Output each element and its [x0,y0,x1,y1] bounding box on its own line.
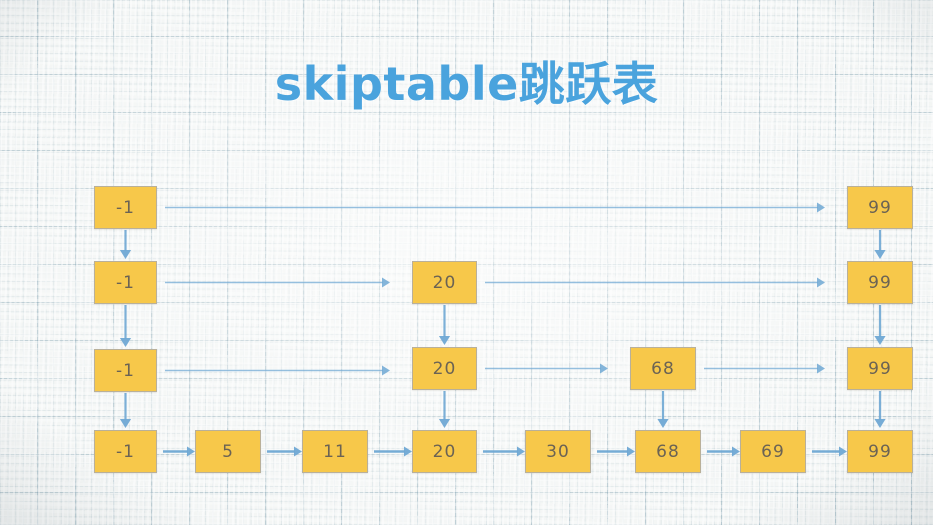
skip-list-node: -1 [94,186,157,229]
slide-canvas: skiptable跳跃表 -199-12099-1206899-15112030… [0,0,933,525]
skip-list-node: 20 [412,430,477,473]
skip-list-node: 68 [635,430,701,473]
page-title: skiptable跳跃表 [0,48,933,114]
skip-list-node: 20 [412,261,477,304]
skip-list-node: 69 [740,430,806,473]
skip-list-node: -1 [94,430,157,473]
skip-list-node: -1 [94,349,157,392]
skip-list-node: 68 [630,347,696,390]
skip-list-node: 11 [302,430,368,473]
skip-list-node: 30 [525,430,591,473]
skip-list-node: 99 [847,186,913,229]
skip-list-node: 99 [847,347,913,390]
skip-list-node: 5 [195,430,261,473]
skip-list-node: 99 [847,261,913,304]
skip-list-node: -1 [94,261,157,304]
skip-list-node: 20 [412,347,477,390]
skip-list-node: 99 [847,430,913,473]
